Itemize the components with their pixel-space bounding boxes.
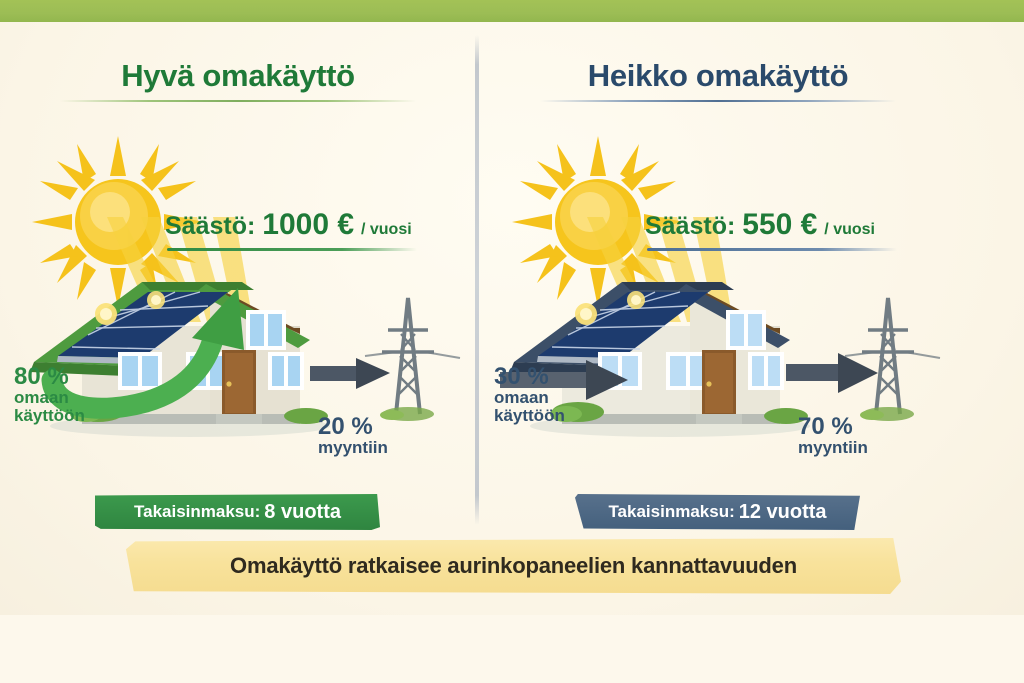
- self-use-line2-good: käyttöön: [14, 407, 85, 425]
- power-pylon-icon: [365, 298, 460, 414]
- savings-amount-good: 1000 €: [262, 208, 354, 241]
- sell-percent-weak: 70 %: [798, 414, 868, 439]
- self-use-label-weak: 30 % omaan käyttöön: [494, 364, 565, 425]
- self-use-line1-weak: omaan: [494, 389, 565, 407]
- sell-percent-good: 20 %: [318, 414, 388, 439]
- self-use-line2-weak: käyttöön: [494, 407, 565, 425]
- power-pylon-icon: [845, 298, 940, 414]
- panel-good-self-consumption: Hyvä omakäyttö: [0, 22, 476, 542]
- savings-label-good: Säästö:: [165, 212, 255, 240]
- bottom-background: [0, 615, 1024, 683]
- right-arrow-icon: [310, 358, 390, 389]
- savings-label-weak: Säästö:: [645, 212, 735, 240]
- right-arrow-icon: [786, 353, 878, 393]
- top-accent-bar: [0, 0, 1024, 22]
- savings-underline-good: [167, 248, 417, 251]
- savings-unit-weak: / vuosi: [824, 221, 875, 238]
- sell-line1-weak: myyntiin: [798, 439, 868, 457]
- payback-value-weak: 12 vuotta: [735, 501, 827, 524]
- self-use-percent-good: 80 %: [14, 364, 85, 389]
- panel-weak-self-consumption: Heikko omakäyttö: [480, 22, 956, 542]
- savings-good: Säästö: 1000 € / vuosi: [165, 208, 412, 242]
- footer-banner-text: Omakäyttö ratkaisee aurinkopaneelien kan…: [126, 538, 901, 594]
- sell-line1-good: myyntiin: [318, 439, 388, 457]
- savings-underline-weak: [647, 248, 897, 251]
- infographic-canvas: Hyvä omakäyttö: [0, 0, 1024, 683]
- savings-weak: Säästö: 550 € / vuosi: [645, 208, 875, 242]
- payback-label-weak: Takaisinmaksu:: [608, 502, 734, 522]
- footer-banner: Omakäyttö ratkaisee aurinkopaneelien kan…: [126, 538, 901, 594]
- panel-title-underline-weak: [540, 100, 896, 102]
- sell-label-good: 20 % myyntiin: [318, 414, 388, 457]
- panel-title-underline-good: [60, 100, 416, 102]
- panel-title-weak: Heikko omakäyttö: [480, 58, 956, 94]
- payback-value-good: 8 vuotta: [260, 501, 341, 524]
- panel-title-good: Hyvä omakäyttö: [0, 58, 476, 94]
- savings-unit-good: / vuosi: [361, 221, 412, 238]
- payback-badge-weak: Takaisinmaksu: 12 vuotta: [575, 494, 860, 530]
- payback-label-good: Takaisinmaksu:: [134, 502, 260, 522]
- savings-amount-weak: 550 €: [742, 208, 817, 241]
- self-use-label-good: 80 % omaan käyttöön: [14, 364, 85, 425]
- self-use-percent-weak: 30 %: [494, 364, 565, 389]
- self-use-line1-good: omaan: [14, 389, 85, 407]
- payback-badge-good: Takaisinmaksu: 8 vuotta: [95, 494, 380, 530]
- sell-label-weak: 70 % myyntiin: [798, 414, 868, 457]
